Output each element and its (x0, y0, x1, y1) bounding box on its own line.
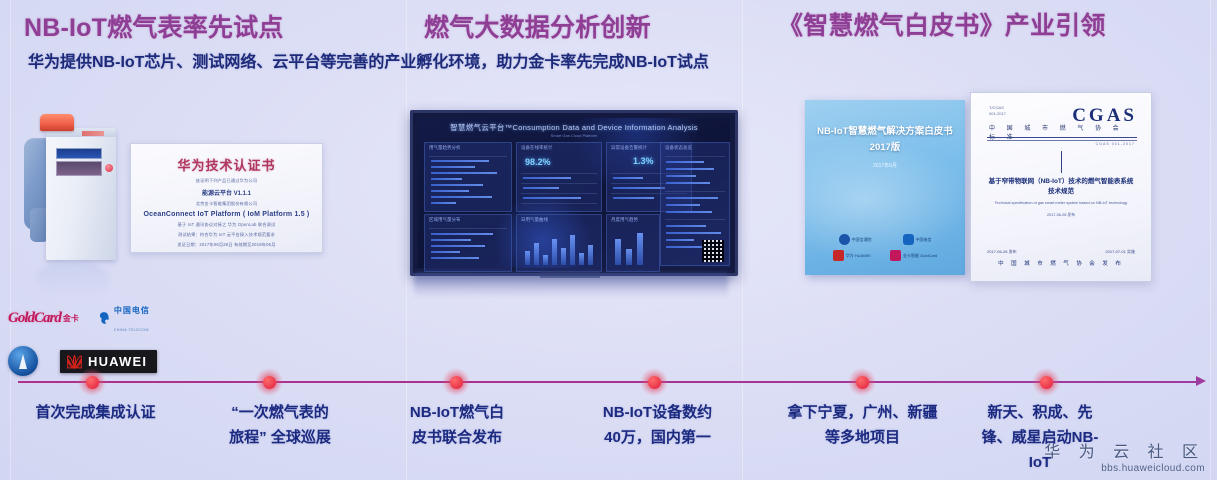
huawei-certificate-card: 华为技术认证书 兹证明下列产品已通过华为公司 能源云平台 V1.1.1 北京金卡… (130, 143, 323, 253)
standard-title: 基于窄带物联网（NB-IoT）技术的燃气智能表系统 技术规范 (981, 177, 1141, 197)
dashboard-card-header: 用气量趋势分析 (429, 145, 461, 151)
whitepaper-date: 2017年6月 (805, 162, 965, 169)
slide-canvas: NB-IoT燃气表率先试点 燃气大数据分析创新 《智慧燃气白皮书》产业引领 华为… (0, 0, 1217, 480)
monitor-reflection (414, 272, 728, 298)
dashboard-card-header: 月度用气趋势 (611, 217, 638, 223)
standard-publisher: 中 国 城 市 燃 气 协 会 发 布 (971, 259, 1151, 267)
standard-date: 2017-06-28 发布 (971, 213, 1151, 218)
whitepaper-logo-label: 金卡智能 GoldCard (903, 253, 937, 259)
standard-rule (987, 137, 1137, 138)
dashboard-card-header: 区域用气量分布 (429, 217, 461, 223)
standard-organization: 中 国 城 市 燃 气 协 会 标 准 (989, 123, 1137, 141)
certificate-line-6: 测试结果：符合华为 IoT 云平台接入技术规范要求 (138, 232, 315, 238)
watermark-url: bbs.huaweicloud.com (1044, 463, 1205, 474)
certificate-line-4: OceanConnect IoT Platform ( IoM Platform… (138, 211, 315, 218)
standard-title-line1: 基于窄带物联网（NB-IoT）技术的燃气智能表系统 (989, 178, 1134, 185)
huawei-flower-icon (833, 250, 844, 261)
whitepaper-title-text: NB-IoT智慧燃气解决方案白皮书 (817, 126, 953, 137)
dashboard-card: 月度用气趋势 (606, 214, 660, 272)
timeline-dot[interactable] (848, 368, 876, 396)
whitepaper-edition: 2017版 (870, 142, 901, 153)
whitepaper-logo-label: 中国电信 (916, 237, 932, 243)
header-title-1: NB-IoT燃气表率先试点 (24, 8, 284, 44)
dashboard-title: 智慧燃气云平台™Consumption Data and Device Info… (418, 122, 730, 133)
watermark: 华 为 云 社 区 bbs.huaweicloud.com (1044, 438, 1205, 474)
certificate-title: 华为技术认证书 (138, 155, 315, 174)
dashboard-card-header: 异常设备告警统计 (611, 145, 647, 151)
whitepaper-title: NB-IoT智慧燃气解决方案白皮书 2017版 (805, 124, 965, 156)
timeline-dot[interactable] (442, 368, 470, 396)
timeline-label: 拿下宁夏，广州、新疆等多地项目 (745, 400, 980, 450)
whitepaper-logo: 中国信通院 (839, 234, 872, 245)
certificate-line-5: 基于 IoT 通讯协议对接之 华为 OpenLab 联合测试 (138, 222, 315, 228)
telecom-logo-cn: 中国电信 (114, 306, 150, 315)
whitepaper-logo: 华为 HUAWEI (833, 250, 871, 261)
timeline-arrow-icon (1196, 376, 1206, 386)
meter-lcd-upper (56, 148, 102, 159)
goldcard-logo: GoldCard 金卡 (8, 310, 79, 327)
dashboard-kpi: 1.3% (633, 156, 654, 166)
goldcard-logo-text: GoldCard (8, 310, 61, 327)
goldcard-icon (890, 250, 901, 261)
huawei-flower-icon (66, 354, 83, 369)
whitepaper-logo-group: 中国信通院 中国电信 华为 HUAWEI 金卡智能 GoldCard (823, 229, 947, 261)
subtitle-text: 华为提供NB-IoT芯片、测试网络、云平台等完善的产业孵化环境，助力金卡率先完成… (28, 48, 709, 72)
dashboard-kpi: 98.2% (525, 157, 551, 167)
timeline-label: 首次完成集成认证 (8, 400, 183, 425)
standard-rule-thin (987, 140, 1137, 141)
partner-logo-group: GoldCard 金卡 中国电信 CHINA TELECOM (8, 300, 208, 376)
dashboard-card: 区域用气量分布 (424, 214, 512, 272)
standard-title-en: Technical specification of gas smart met… (985, 201, 1137, 205)
meter-lcd-lower (56, 161, 102, 176)
torch-circle-logo (8, 346, 38, 376)
whitepaper-logo-label: 中国信通院 (852, 237, 872, 243)
standard-code: T/CGAS001-2017 (989, 105, 1006, 117)
telecom-text-block: 中国电信 CHINA TELECOM (114, 300, 150, 336)
dashboard-monitor: 智慧燃气云平台™Consumption Data and Device Info… (410, 110, 738, 276)
meter-battery-cap (40, 114, 74, 131)
dashboard-card: 日用气量曲线 (516, 214, 602, 272)
china-telecom-logo: 中国电信 CHINA TELECOM (97, 300, 150, 336)
cgas-standard-document: T/CGAS001-2017 CGAS 中 国 城 市 燃 气 协 会 标 准 … (970, 92, 1152, 282)
timeline-axis (18, 381, 1198, 383)
header-title-2: 燃气大数据分析创新 (424, 8, 651, 44)
caict-icon (839, 234, 850, 245)
dashboard-card: 设备在线率统计 98.2% (516, 142, 602, 212)
dashboard-subtitle: Smart Gas Cloud Platform (418, 133, 730, 138)
timeline-dot[interactable] (1032, 368, 1060, 396)
meter-label-tag (82, 131, 104, 136)
timeline-dot[interactable] (640, 368, 668, 396)
goldcard-logo-cn: 金卡 (63, 313, 79, 324)
telecom-logo-en: CHINA TELECOM (114, 328, 149, 332)
meter-reflection (36, 262, 110, 296)
meter-indicator-light (105, 164, 113, 172)
dashboard-card-header: 设备状态总览 (665, 145, 692, 151)
huawei-logo: HUAWEI (60, 350, 157, 373)
gas-meter-image (22, 112, 122, 272)
whitepaper-logo-label: 华为 HUAWEI (846, 253, 871, 259)
certificate-line-2: 能源云平台 V1.1.1 (138, 188, 315, 197)
standard-issue-date: 2017-06-28 发布 (987, 249, 1017, 255)
certificate-line-7: 发证日期：2017年06月28日 有效期至2019年06月 (138, 242, 315, 248)
standard-revision: CGAS 001-2017 (1096, 142, 1135, 146)
telecom-icon (903, 234, 914, 245)
timeline-dot[interactable] (255, 368, 283, 396)
certificate-line-1: 兹证明下列产品已通过华为公司 (138, 178, 315, 184)
dashboard-screen: 智慧燃气云平台™Consumption Data and Device Info… (418, 118, 730, 268)
dashboard-card: 用气量趋势分析 (424, 142, 512, 212)
dashboard-qr-code (702, 240, 724, 262)
panel-seam (1210, 0, 1211, 480)
timeline-label: NB-IoT设备数约40万，国内第一 (570, 400, 745, 450)
torch-icon (19, 354, 27, 369)
dashboard-card-header: 设备在线率统计 (521, 145, 553, 151)
whitepaper-logo: 金卡智能 GoldCard (890, 250, 937, 261)
standard-divider (1061, 151, 1062, 173)
header-title-3: 《智慧燃气白皮书》产业引领 (778, 6, 1106, 42)
huawei-logo-text: HUAWEI (88, 354, 147, 369)
timeline-label: “一次燃气表的旅程” 全球巡展 (200, 400, 360, 450)
whitepaper-logo: 中国电信 (903, 234, 932, 245)
standard-effective-date: 2017-07-01 实施 (1105, 249, 1135, 255)
timeline-label: NB-IoT燃气白皮书联合发布 (382, 400, 532, 450)
whitepaper-cover: NB-IoT智慧燃气解决方案白皮书 2017版 2017年6月 中国信通院 中国… (805, 100, 965, 275)
dashboard-card-header: 日用气量曲线 (521, 217, 548, 223)
certificate-line-3: 北京金卡智能集团股份有限公司 (138, 201, 315, 207)
standard-title-line2: 技术规范 (1048, 188, 1074, 195)
timeline-dot[interactable] (78, 368, 106, 396)
telecom-swirl-icon (97, 311, 111, 325)
watermark-cn: 华 为 云 社 区 (1044, 438, 1205, 462)
